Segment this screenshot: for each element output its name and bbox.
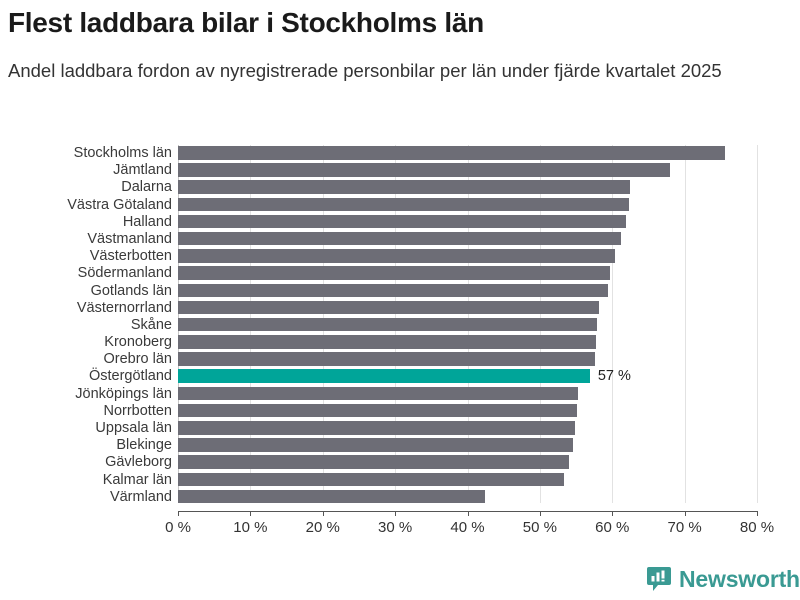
y-axis-label: Gotlands län xyxy=(0,283,172,299)
bar-row: Värmland xyxy=(0,489,800,506)
y-axis-label: Uppsala län xyxy=(0,420,172,436)
x-tick-50 xyxy=(540,511,541,516)
y-axis-label: Södermanland xyxy=(0,265,172,281)
bar-row: Halland xyxy=(0,214,800,231)
bar xyxy=(178,146,725,160)
bar xyxy=(178,318,597,332)
bar-row: Västernorrland xyxy=(0,300,800,317)
bar xyxy=(178,490,485,504)
y-axis-label: Kronoberg xyxy=(0,334,172,350)
bar-row: Södermanland xyxy=(0,265,800,282)
x-tick-70 xyxy=(685,511,686,516)
chart-subtitle: Andel laddbara fordon av nyregistrerade … xyxy=(8,58,798,84)
bar-row: Västmanland xyxy=(0,231,800,248)
x-tick-label: 0 % xyxy=(165,519,191,536)
x-tick-80 xyxy=(757,511,758,516)
bar-row: Stockholms län xyxy=(0,145,800,162)
y-axis-label: Västerbotten xyxy=(0,248,172,264)
x-tick-label: 20 % xyxy=(306,519,340,536)
bar-chart-speech-bubble-icon xyxy=(646,566,672,592)
x-tick-10 xyxy=(250,511,251,516)
bar xyxy=(178,421,575,435)
newsworthy-logo: Newsworthy xyxy=(646,566,800,592)
bar xyxy=(178,249,615,263)
y-axis-label: Värmland xyxy=(0,489,172,505)
y-axis-label: Blekinge xyxy=(0,437,172,453)
bar xyxy=(178,387,578,401)
bar-rows: Stockholms länJämtlandDalarnaVästra Göta… xyxy=(0,145,800,506)
bar xyxy=(178,352,595,366)
logo-wordmark: Newsworthy xyxy=(679,567,800,591)
y-axis-label: Gävleborg xyxy=(0,454,172,470)
bar-row: Skåne xyxy=(0,317,800,334)
y-axis-label: Halland xyxy=(0,214,172,230)
bar-row: Gävleborg xyxy=(0,454,800,471)
y-axis-label: Västmanland xyxy=(0,231,172,247)
plot-area: Stockholms länJämtlandDalarnaVästra Göta… xyxy=(0,140,800,540)
bar xyxy=(178,284,608,298)
y-axis-label: Kalmar län xyxy=(0,472,172,488)
bar-row: Gotlands län xyxy=(0,283,800,300)
y-axis-label: Jämtland xyxy=(0,162,172,178)
x-tick-label: 60 % xyxy=(595,519,629,536)
y-axis-label: Östergötland xyxy=(0,368,172,384)
y-axis-label: Västernorrland xyxy=(0,300,172,316)
x-tick-label: 50 % xyxy=(523,519,557,536)
bar-row: Orebro län xyxy=(0,351,800,368)
bar-row: Kronoberg xyxy=(0,334,800,351)
bar-highlighted xyxy=(178,369,590,383)
y-axis-label: Västra Götaland xyxy=(0,197,172,213)
x-tick-40 xyxy=(468,511,469,516)
x-tick-30 xyxy=(395,511,396,516)
y-axis-label: Norrbotten xyxy=(0,403,172,419)
chart-title: Flest laddbara bilar i Stockholms län xyxy=(8,6,788,40)
bar-row: Kalmar län xyxy=(0,472,800,489)
bar-row: Östergötland57 % xyxy=(0,368,800,385)
x-tick-20 xyxy=(323,511,324,516)
x-tick-label: 40 % xyxy=(450,519,484,536)
bar-row: Jämtland xyxy=(0,162,800,179)
bar xyxy=(178,455,569,469)
bar xyxy=(178,301,599,315)
bar xyxy=(178,335,596,349)
bar-row: Uppsala län xyxy=(0,420,800,437)
x-tick-label: 70 % xyxy=(668,519,702,536)
bar xyxy=(178,180,630,194)
x-tick-60 xyxy=(612,511,613,516)
bar-row: Dalarna xyxy=(0,179,800,196)
x-tick-label: 10 % xyxy=(233,519,267,536)
y-axis-label: Skåne xyxy=(0,317,172,333)
bar xyxy=(178,266,610,280)
bar-value-label: 57 % xyxy=(598,368,631,384)
bar-row: Västerbotten xyxy=(0,248,800,265)
bar xyxy=(178,163,670,177)
y-axis-label: Orebro län xyxy=(0,351,172,367)
x-tick-label: 80 % xyxy=(740,519,774,536)
bar xyxy=(178,232,621,246)
x-tick-label: 30 % xyxy=(378,519,412,536)
bar xyxy=(178,215,626,229)
chart-page: Flest laddbara bilar i Stockholms län An… xyxy=(0,0,800,600)
bar xyxy=(178,404,577,418)
bar-row: Blekinge xyxy=(0,437,800,454)
bar-row: Norrbotten xyxy=(0,403,800,420)
y-axis-label: Jönköpings län xyxy=(0,386,172,402)
bar-row: Jönköpings län xyxy=(0,386,800,403)
bar xyxy=(178,438,573,452)
bar xyxy=(178,473,564,487)
y-axis-label: Dalarna xyxy=(0,179,172,195)
bar xyxy=(178,198,629,212)
y-axis-label: Stockholms län xyxy=(0,145,172,161)
bar-row: Västra Götaland xyxy=(0,197,800,214)
x-tick-0 xyxy=(178,511,179,516)
